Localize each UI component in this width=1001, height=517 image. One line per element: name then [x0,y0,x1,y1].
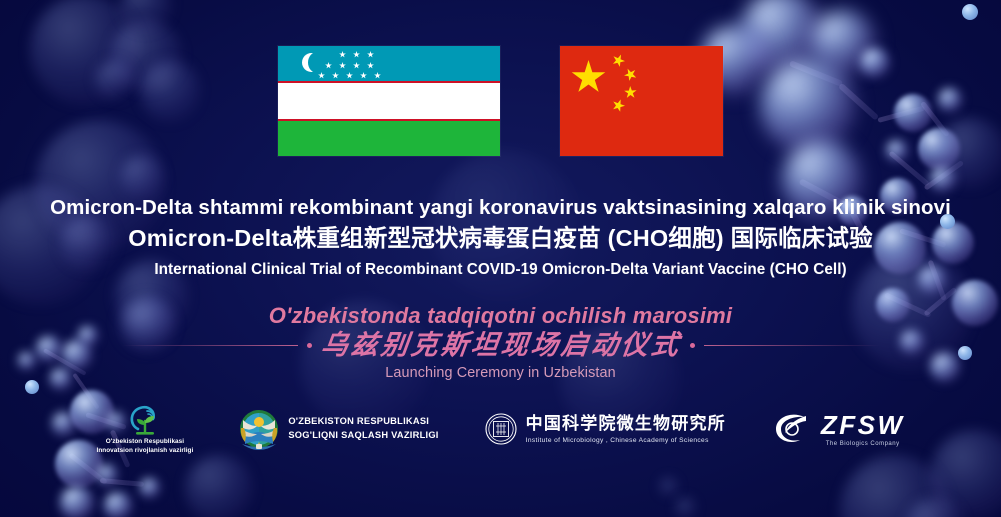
cas-seal-icon [485,413,517,445]
molecule-node [930,166,956,192]
bg-blob [840,455,950,517]
molecule-bond [68,453,107,485]
logo-health-caption: O'ZBEKISTON RESPUBLIKASI SOG'LIQNI SAQLA… [288,415,438,443]
innovation-bulb-sprout-icon [125,403,165,435]
ceremony-uzbek: O'zbekistonda tadqiqotni ochilish marosi… [0,303,1001,329]
cas-chinese-name: 中国科学院微生物研究所 [526,415,726,434]
cas-english-name: Institute of Microbiology , Chinese Acad… [526,437,726,444]
title-uzbek: Omicron-Delta shtammi rekombinant yangi … [0,196,1001,220]
molecule-node [104,492,132,517]
flag-row [0,46,1001,156]
logo-health-line2: SOG'LIQNI SAQLASH VAZIRLIGI [288,429,438,443]
cn-small-star-icon [622,84,639,101]
molecule-bond [924,160,965,190]
molecule-node [660,478,678,496]
zfsw-swirl-icon [772,413,812,445]
bg-blob [185,455,253,517]
cn-small-star-icon [610,97,627,114]
poster-canvas: Omicron-Delta shtammi rekombinant yangi … [0,0,1001,517]
logo-ministry-innovation: O'zbekiston Respublikasi Innovatsion riv… [97,403,194,456]
logo-strip: O'zbekiston Respublikasi Innovatsion riv… [0,403,1001,456]
decorative-dot-right [690,343,695,348]
title-english: International Clinical Trial of Recombin… [0,261,1001,279]
molecule-bond [100,478,144,487]
decorative-dot-left [307,343,312,348]
molecule-node [676,498,696,517]
molecule-node [962,4,978,20]
bg-blob [120,0,172,32]
title-chinese: Omicron-Delta株重组新型冠状病毒蛋白疫苗 (CHO细胞) 国际临床试… [0,223,1001,254]
logo-innovation-caption: O'zbekiston Respublikasi Innovatsion riv… [97,437,194,456]
cn-big-star-icon [571,60,606,95]
cn-small-star-icon [621,65,639,83]
ceremony-chinese-row: 乌兹别克斯坦现场启动仪式 [0,332,1001,359]
uz-white-band [278,83,500,119]
zfsw-caption: ZFSW The Biologics Company [821,412,905,447]
ceremony-block: O'zbekistonda tadqiqotni ochilish marosi… [0,303,1001,381]
logo-innovation-line2: Innovatsion rivojlanish vazirligi [97,446,194,455]
molecule-node [96,464,118,486]
china-flag [560,46,723,156]
decorative-line-left [122,345,298,346]
ceremony-english: Launching Ceremony in Uzbekistan [0,365,1001,381]
logo-health-line1: O'ZBEKISTON RESPUBLIKASI [288,415,438,429]
title-block: Omicron-Delta shtammi rekombinant yangi … [0,196,1001,279]
uz-green-band [278,121,500,156]
ceremony-chinese: 乌兹别克斯坦现场启动仪式 [319,332,682,359]
crescent-moon-icon [302,53,321,72]
molecule-node [140,478,160,498]
logo-institute-microbiology: 中国科学院微生物研究所 Institute of Microbiology , … [485,413,726,445]
molecule-node [60,486,94,517]
cn-small-star-icon [610,52,627,69]
bg-blob [120,155,164,199]
molecule-node [25,380,39,394]
logo-ministry-health: O'ZBEKISTON RESPUBLIKASI SOG'LIQNI SAQLA… [239,408,438,450]
uzbekistan-flag [278,46,500,156]
cas-caption: 中国科学院微生物研究所 Institute of Microbiology , … [526,415,726,444]
zfsw-tagline: The Biologics Company [826,441,900,447]
logo-innovation-line1: O'zbekiston Respublikasi [97,437,194,446]
uzbekistan-state-emblem-icon [239,408,279,450]
bg-blob [905,498,965,517]
decorative-line-right [704,345,880,346]
logo-zfsw: ZFSW The Biologics Company [772,412,905,447]
zfsw-name: ZFSW [821,412,905,438]
